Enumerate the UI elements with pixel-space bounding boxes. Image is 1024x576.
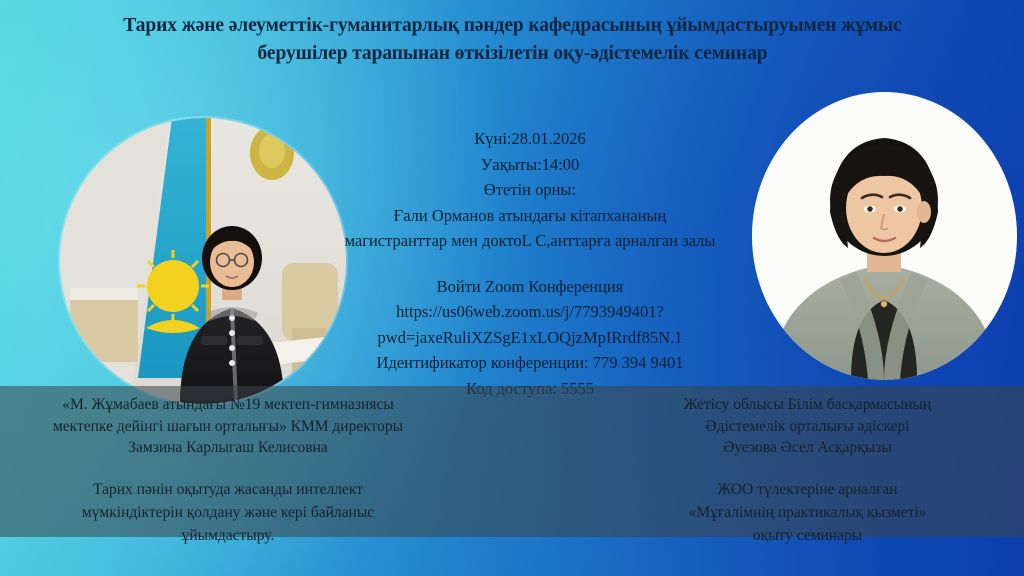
title-line-1: Тарих және әлеуметтік-гуманитарлық пәнде… [90, 12, 935, 40]
speaker-left-affiliation-line-1: «М. Жұмабаев атындағы №19 мектеп-гимнази… [8, 394, 448, 416]
event-date: Күні:28.01.2026 [330, 126, 730, 152]
venue-line-1: Ғали Орманов атындағы кітапхананың [330, 203, 730, 229]
venue-line-2: магистранттар мен доктоL C,анттарға арна… [330, 228, 730, 254]
zoom-link-part-1[interactable]: https://us06web.zoom.us/j/7793949401? [330, 299, 730, 325]
seminar-poster: Тарих және әлеуметтік-гуманитарлық пәнде… [0, 0, 1024, 576]
speaker-left-topic-line-1: Тарих пәнін оқытуда жасанды интеллект [8, 478, 448, 501]
speaker-right-topic-line-3: оқыту семинары [600, 524, 1015, 547]
speaker-right-topic-line-2: «Мұғалімнің практикалық қызметі» [600, 501, 1015, 524]
speaker-left-topic-line-3: ұйымдастыру. [8, 524, 448, 547]
title-line-2: берушілер тарапынан өткізілетін оқу-әдіс… [90, 40, 935, 68]
speaker-left-topic-line-2: мүмкіндіктерін қолдану және кері байланы… [8, 501, 448, 524]
photo-speaker-right [752, 92, 1017, 380]
speaker-right-affiliation-line-2: Әдістемелік орталығы әдіскері [600, 416, 1015, 438]
speaker-right-topic: ЖОО түлектеріне арналған «Мұғалімнің пра… [600, 459, 1015, 547]
zoom-meeting-id: Идентификатор конференции: 779 394 9401 [330, 350, 730, 376]
spacer [330, 254, 730, 274]
photo-speaker-left [60, 118, 346, 404]
speaker-right-name: Әуезова Әсел Асқарқызы [600, 437, 1015, 459]
portrait-left-illustration [60, 118, 346, 404]
speaker-right-topic-line-1: ЖОО түлектеріне арналған [600, 478, 1015, 501]
speaker-left-name: Замзина Карлыгаш Келисовна [8, 437, 448, 459]
speaker-left-topic: Тарих пәнін оқытуда жасанды интеллект мү… [8, 459, 448, 547]
zoom-join-label: Войти Zoom Конференция [330, 274, 730, 300]
event-details: Күні:28.01.2026 Уақыты:14:00 Өтетін орны… [330, 126, 730, 401]
venue-label: Өтетін орны: [330, 177, 730, 203]
event-time: Уақыты:14:00 [330, 152, 730, 178]
poster-title: Тарих және әлеуметтік-гуманитарлық пәнде… [90, 12, 935, 68]
speaker-right-affiliation-line-1: Жетісу облысы Білім басқармасының [600, 394, 1015, 416]
portrait-right-illustration [752, 92, 1017, 380]
speaker-right-affiliation: Жетісу облысы Білім басқармасының Әдісте… [600, 386, 1015, 459]
speaker-left-details: «М. Жұмабаев атындағы №19 мектеп-гимнази… [8, 386, 448, 537]
speaker-right-details: Жетісу облысы Білім басқармасының Әдісте… [600, 386, 1015, 537]
speaker-left-affiliation: «М. Жұмабаев атындағы №19 мектеп-гимнази… [8, 386, 448, 459]
zoom-link-part-2[interactable]: pwd=jaxeRuliXZSgE1xLOQjzMpIRrdf85N.1 [330, 325, 730, 351]
speaker-left-affiliation-line-2: мектепке дейінгі шағын орталығы» КММ дир… [8, 416, 448, 438]
